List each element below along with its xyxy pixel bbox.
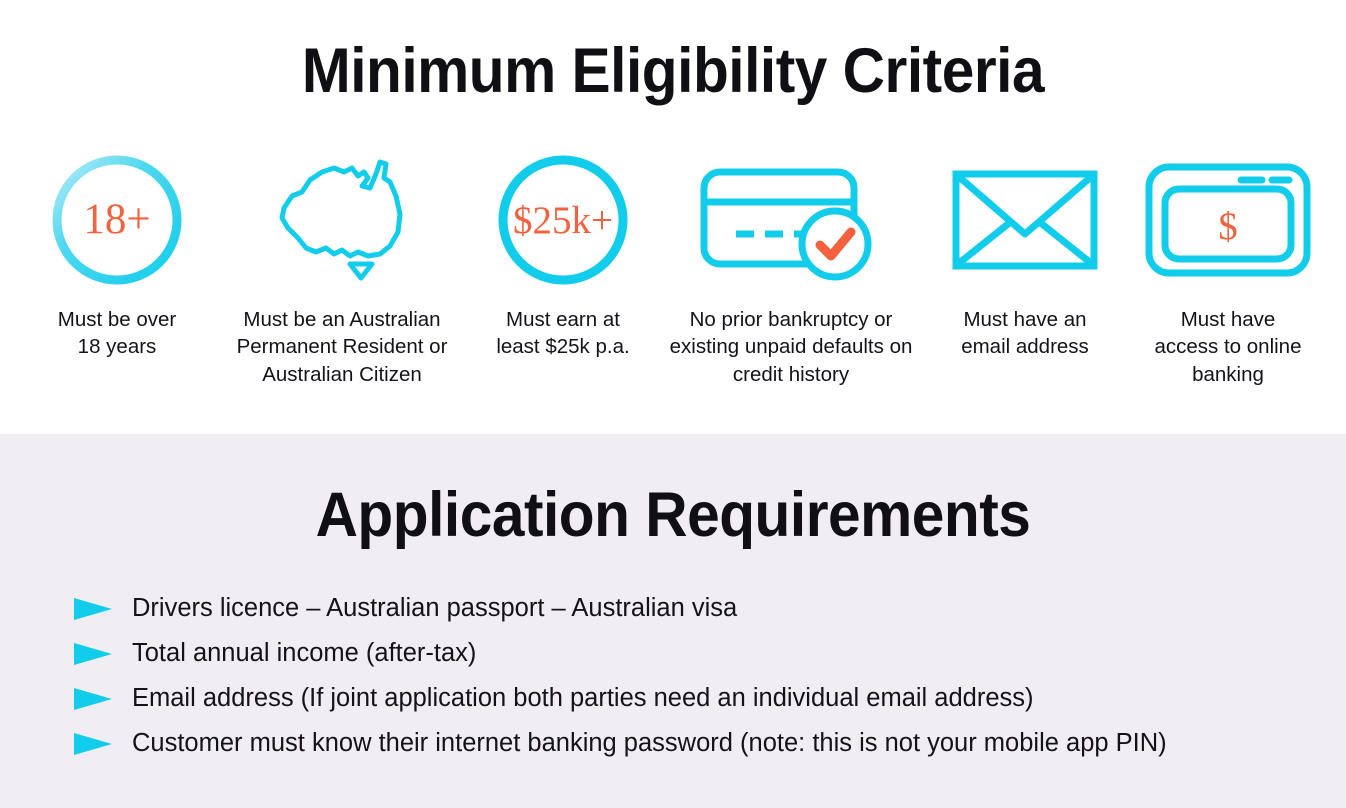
dollar-sign-label: $ xyxy=(1218,205,1238,248)
list-item: Total annual income (after-tax) xyxy=(72,631,1310,676)
australia-map-icon xyxy=(272,150,412,290)
list-item-label: Drivers licence – Australian passport – … xyxy=(132,594,737,622)
list-item-label: Total annual income (after-tax) xyxy=(132,639,476,667)
criteria-caption: Must be an Australian Permanent Resident… xyxy=(237,306,448,388)
eligibility-section: Minimum Eligibility Criteria xyxy=(0,0,1346,434)
criteria-caption: No prior bankruptcy or existing unpaid d… xyxy=(670,306,913,388)
list-item: Email address (If joint application both… xyxy=(72,676,1310,721)
requirements-list: Drivers licence – Australian passport – … xyxy=(72,586,1310,766)
age-circle-icon: 18+ xyxy=(48,150,186,290)
age-circle-label: 18+ xyxy=(83,196,150,243)
criteria-item-email: Must have an email address xyxy=(930,150,1120,361)
criteria-item-income: $25k+ Must earn at least $25k p.a. xyxy=(474,150,652,361)
list-item: Customer must know their internet bankin… xyxy=(72,721,1310,766)
criteria-item-residency: Must be an Australian Permanent Resident… xyxy=(224,150,460,388)
triangle-right-icon xyxy=(72,731,114,757)
triangle-right-icon xyxy=(72,596,114,622)
criteria-item-age: 18+ Must be over 18 years xyxy=(24,150,210,361)
income-circle-label: $25k+ xyxy=(513,199,613,242)
list-item: Drivers licence – Australian passport – … xyxy=(72,586,1310,631)
income-circle-icon: $25k+ xyxy=(494,150,632,290)
criteria-caption: Must have an email address xyxy=(961,306,1089,361)
triangle-right-icon xyxy=(72,641,114,667)
online-banking-screen-icon: $ xyxy=(1143,150,1313,290)
criteria-row: 18+ Must be over 18 years Must be an Aus… xyxy=(24,150,1322,388)
envelope-icon xyxy=(949,150,1101,290)
page-title: Minimum Eligibility Criteria xyxy=(47,0,1299,104)
criteria-item-credit: No prior bankruptcy or existing unpaid d… xyxy=(666,150,916,388)
criteria-caption: Must earn at least $25k p.a. xyxy=(496,306,629,361)
requirements-title: Application Requirements xyxy=(47,434,1299,548)
credit-card-check-icon xyxy=(696,150,886,290)
triangle-right-icon xyxy=(72,686,114,712)
list-item-label: Email address (If joint application both… xyxy=(132,684,1034,712)
infographic-page: Minimum Eligibility Criteria xyxy=(0,0,1346,808)
criteria-caption: Must have access to online banking xyxy=(1154,306,1301,388)
list-item-label: Customer must know their internet bankin… xyxy=(132,729,1167,757)
criteria-caption: Must be over 18 years xyxy=(58,306,177,361)
criteria-item-online-banking: $ Must have access to online banking xyxy=(1134,150,1322,388)
requirements-section: Application Requirements Drivers licence… xyxy=(0,434,1346,808)
